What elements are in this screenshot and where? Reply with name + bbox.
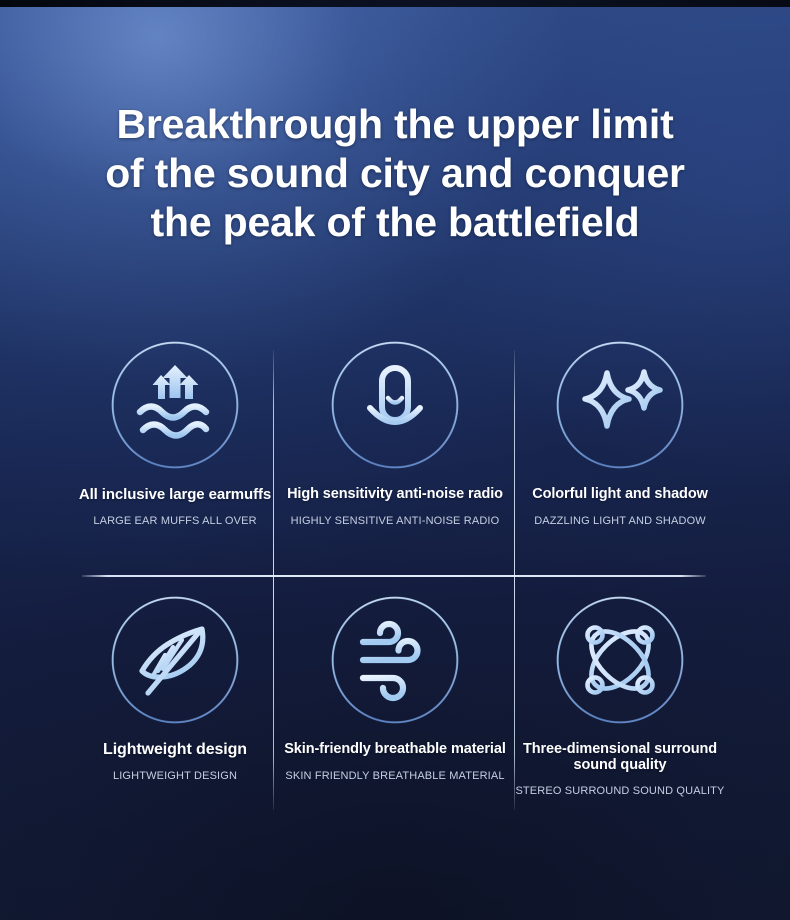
grid-divider-horizontal (82, 575, 706, 577)
orbit-sphere-icon (555, 595, 685, 725)
feather-icon (110, 595, 240, 725)
feature-title-line-2: sound quality (574, 757, 667, 773)
feature-title: Three-dimensional surround sound quality (495, 741, 745, 773)
feature-item-microphone: High sensitivity anti-noise radio HIGHLY… (270, 340, 520, 528)
feature-subtitle: HIGHLY SENSITIVE ANTI-NOISE RADIO (270, 515, 520, 528)
feature-subtitle: STEREO SURROUND SOUND QUALITY (495, 785, 745, 798)
page-title: Breakthrough the upper limit of the soun… (0, 100, 790, 247)
feature-title: Skin-friendly breathable material (270, 741, 520, 758)
product-feature-banner: Breakthrough the upper limit of the soun… (0, 0, 790, 920)
microphone-icon (330, 340, 460, 470)
feature-title: High sensitivity anti-noise radio (270, 486, 520, 503)
feature-item-surround-sound: Three-dimensional surround sound quality… (495, 595, 745, 798)
feature-grid: All inclusive large earmuffs LARGE EAR M… (0, 340, 790, 840)
feature-title: Lightweight design (50, 741, 300, 758)
headline-line-2: of the sound city and conquer (0, 149, 790, 198)
headline-line-1: Breakthrough the upper limit (0, 100, 790, 149)
feature-subtitle: LARGE EAR MUFFS ALL OVER (50, 515, 300, 528)
feature-subtitle: DAZZLING LIGHT AND SHADOW (495, 515, 745, 528)
feature-subtitle: LIGHTWEIGHT DESIGN (50, 770, 300, 783)
sparkle-stars-icon (555, 340, 685, 470)
feature-subtitle: SKIN FRIENDLY BREATHABLE MATERIAL (270, 770, 520, 783)
arrows-over-waves-icon (110, 340, 240, 470)
feature-item-breathable: Skin-friendly breathable material SKIN F… (270, 595, 520, 783)
top-edge-strip (0, 0, 790, 7)
feature-title: Colorful light and shadow (495, 486, 745, 503)
feature-item-light-shadow: Colorful light and shadow DAZZLING LIGHT… (495, 340, 745, 528)
headline-line-3: the peak of the battlefield (0, 198, 790, 247)
feature-title-line-1: Three-dimensional surround (523, 741, 717, 757)
feature-item-earmuffs: All inclusive large earmuffs LARGE EAR M… (50, 340, 300, 528)
feature-item-lightweight: Lightweight design LIGHTWEIGHT DESIGN (50, 595, 300, 783)
wind-icon (330, 595, 460, 725)
feature-title: All inclusive large earmuffs (50, 486, 300, 503)
